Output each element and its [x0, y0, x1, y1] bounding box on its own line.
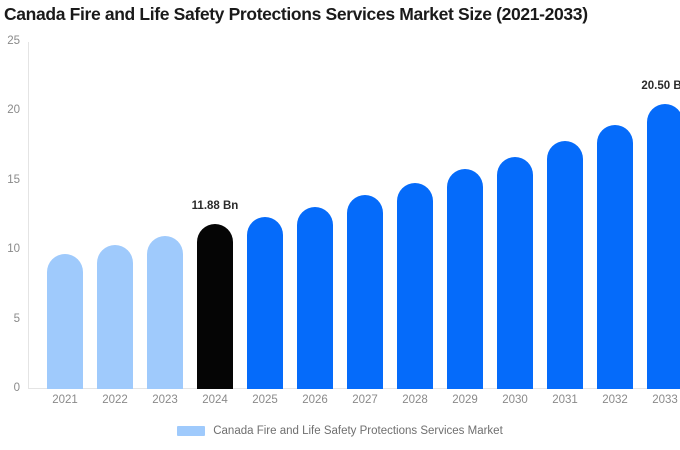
bar-group — [240, 42, 290, 389]
x-tick-label: 2027 — [340, 394, 390, 406]
x-axis-ticks: 2021202220232024202520262027202820292030… — [28, 394, 680, 412]
chart-legend: Canada Fire and Life Safety Protections … — [0, 425, 680, 437]
bar-group — [140, 42, 190, 389]
bar-2022[interactable] — [97, 245, 133, 389]
y-tick-label: 15 — [0, 175, 20, 187]
y-tick-label: 0 — [0, 383, 20, 395]
bar-group — [540, 42, 590, 389]
bar-group — [390, 42, 440, 389]
bar-2023[interactable] — [147, 236, 183, 389]
bar-group — [290, 42, 340, 389]
bar-2021[interactable] — [47, 254, 83, 389]
y-tick-label: 20 — [0, 105, 20, 117]
bar-2031[interactable] — [547, 141, 583, 389]
x-tick-label: 2029 — [440, 394, 490, 406]
bar-value-label: 20.50 Bn — [623, 80, 680, 92]
bar-group: 20.50 Bn — [640, 42, 680, 389]
bar-2027[interactable] — [347, 195, 383, 389]
bar-group: 11.88 Bn — [190, 42, 240, 389]
bar-2025[interactable] — [247, 217, 283, 389]
y-tick-label: 5 — [0, 314, 20, 326]
y-tick-label: 10 — [0, 244, 20, 256]
bar-group — [340, 42, 390, 389]
bar-chart: Canada Fire and Life Safety Protections … — [0, 0, 680, 450]
x-tick-label: 2026 — [290, 394, 340, 406]
x-tick-label: 2021 — [40, 394, 90, 406]
x-tick-label: 2024 — [190, 394, 240, 406]
bar-2033[interactable] — [647, 104, 680, 389]
chart-title: Canada Fire and Life Safety Protections … — [4, 4, 680, 25]
bar-2032[interactable] — [597, 125, 633, 389]
legend-label: Canada Fire and Life Safety Protections … — [213, 425, 503, 437]
bar-2024[interactable] — [197, 224, 233, 389]
bar-2028[interactable] — [397, 183, 433, 389]
x-tick-label: 2025 — [240, 394, 290, 406]
plot-area: 11.88 Bn20.50 Bn — [28, 42, 680, 389]
bar-group — [40, 42, 90, 389]
bar-2029[interactable] — [447, 169, 483, 389]
legend-swatch[interactable] — [177, 426, 205, 436]
x-tick-label: 2033 — [640, 394, 680, 406]
x-tick-label: 2023 — [140, 394, 190, 406]
x-tick-label: 2032 — [590, 394, 640, 406]
bar-2030[interactable] — [497, 157, 533, 389]
x-tick-label: 2028 — [390, 394, 440, 406]
bar-group — [440, 42, 490, 389]
bars-layer: 11.88 Bn20.50 Bn — [28, 42, 680, 389]
x-tick-label: 2031 — [540, 394, 590, 406]
bar-group — [590, 42, 640, 389]
bar-2026[interactable] — [297, 207, 333, 389]
x-tick-label: 2030 — [490, 394, 540, 406]
y-tick-label: 25 — [0, 36, 20, 48]
bar-group — [90, 42, 140, 389]
x-tick-label: 2022 — [90, 394, 140, 406]
bar-group — [490, 42, 540, 389]
